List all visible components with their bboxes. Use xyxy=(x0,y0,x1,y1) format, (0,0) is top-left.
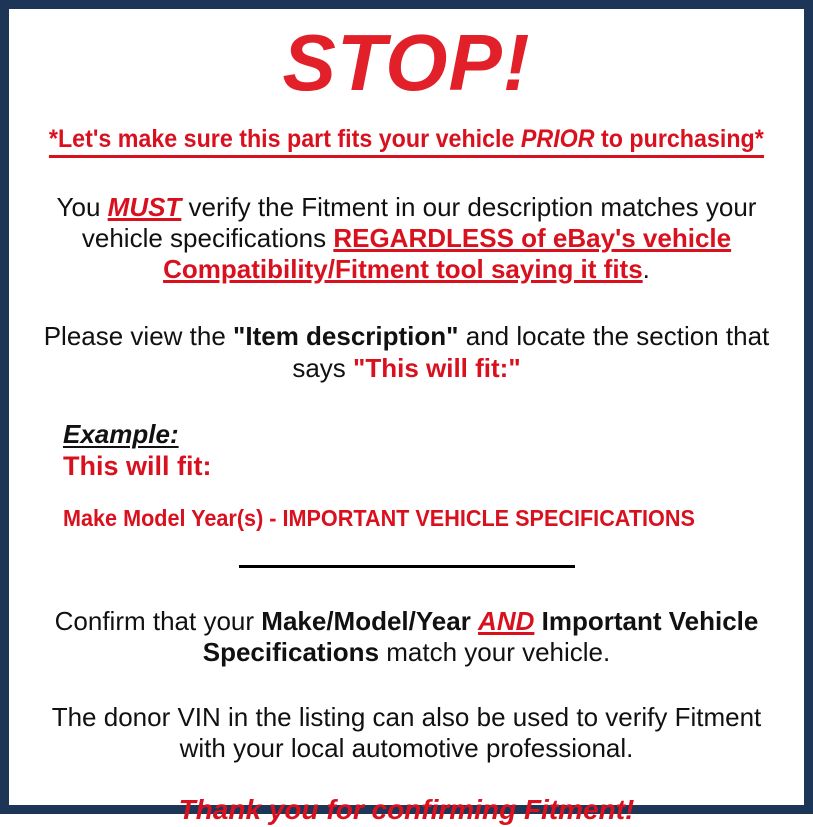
fitment-notice-card: STOP! *Let's make sure this part fits yo… xyxy=(0,0,813,814)
must-text-1: You xyxy=(57,192,108,222)
paragraph-confirm: Confirm that your Make/Model/Year AND Im… xyxy=(27,606,787,668)
item-description-emphasis: "Item description" xyxy=(233,321,458,351)
stop-heading: STOP! xyxy=(17,9,796,103)
view-text-1: Please view the xyxy=(44,321,233,351)
paragraph-must-verify: You MUST verify the Fitment in our descr… xyxy=(27,192,787,286)
subtitle-row: *Let's make sure this part fits your veh… xyxy=(17,103,796,158)
notice-content: STOP! *Let's make sure this part fits yo… xyxy=(9,9,804,805)
example-spec-line: Make Model Year(s) - IMPORTANT VEHICLE S… xyxy=(63,506,752,531)
subtitle-emphasis-prior: PRIOR xyxy=(521,125,595,153)
horizontal-divider xyxy=(239,565,575,568)
divider-row xyxy=(17,558,796,576)
must-text-3: . xyxy=(643,254,650,284)
example-fit-line: This will fit: xyxy=(63,451,796,482)
subtitle-text-after: to purchasing* xyxy=(595,125,764,153)
example-label: Example: xyxy=(63,420,179,449)
must-emphasis: MUST xyxy=(108,192,182,222)
and-emphasis: AND xyxy=(478,606,534,636)
paragraph-view-description: Please view the "Item description" and l… xyxy=(27,321,787,383)
confirm-text-1: Confirm that your xyxy=(55,606,262,636)
this-will-fit-quote: "This will fit:" xyxy=(353,353,521,383)
subtitle-text-before: *Let's make sure this part fits your veh… xyxy=(49,125,521,153)
make-model-year-emphasis: Make/Model/Year xyxy=(261,606,478,636)
example-label-row: Example: xyxy=(63,420,796,449)
paragraph-donor-vin: The donor VIN in the listing can also be… xyxy=(27,702,787,764)
example-block: Example: This will fit: Make Model Year(… xyxy=(17,420,796,532)
thank-you-line: Thank you for confirming Fitment! xyxy=(17,794,796,826)
confirm-text-2: match your vehicle. xyxy=(379,637,610,667)
fitment-subtitle: *Let's make sure this part fits your veh… xyxy=(49,125,764,158)
